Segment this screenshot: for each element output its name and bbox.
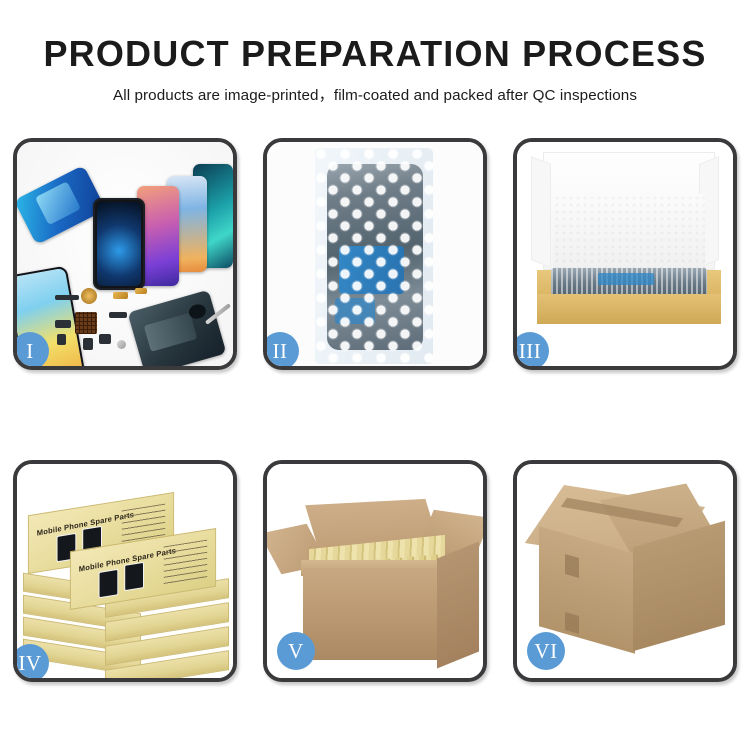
- box-lid-left-flap-icon: [531, 156, 551, 268]
- battery-connector-icon: [99, 334, 111, 344]
- carton-side-icon: [437, 542, 479, 669]
- box-phone-thumb-icon: [124, 562, 144, 591]
- header: PRODUCT PREPARATION PROCESS All products…: [0, 0, 750, 105]
- ic-chip-icon: [75, 312, 97, 334]
- flex-cable-icon: [113, 292, 128, 299]
- stacked-boxes-image: Mobile Phone Spare Parts Mobile Phone Sp…: [17, 464, 233, 678]
- button-flex-icon: [135, 288, 147, 294]
- process-steps-grid: I II III: [13, 138, 737, 682]
- phone-glass-panel-icon: [93, 198, 145, 290]
- retail-box-stack: Mobile Phone Spare Parts Mobile Phone Sp…: [21, 478, 233, 674]
- process-step-panel-6: VI: [513, 460, 737, 682]
- sealed-carton-tape-icon: [565, 554, 579, 578]
- bubble-wrap-image: [267, 142, 483, 366]
- sim-tray-icon: [83, 338, 93, 350]
- step-badge-5: V: [277, 632, 315, 670]
- earpiece-mesh-icon: [109, 312, 127, 318]
- page-title: PRODUCT PREPARATION PROCESS: [0, 34, 750, 74]
- process-step-panel-4: Mobile Phone Spare Parts Mobile Phone Sp…: [13, 460, 237, 682]
- process-step-panel-5: V: [263, 460, 487, 682]
- speaker-part-icon: [81, 288, 97, 304]
- camera-module-icon: [57, 334, 66, 345]
- box-phone-thumb-icon: [99, 569, 119, 598]
- product-preparation-infographic: PRODUCT PREPARATION PROCESS All products…: [0, 0, 750, 750]
- process-step-panel-3: III: [513, 138, 737, 370]
- carton-body-icon: [303, 568, 451, 660]
- product-screens-image: [17, 142, 233, 366]
- foam-lining-icon: [553, 194, 705, 272]
- process-step-panel-1: I: [13, 138, 237, 370]
- foam-box-image: [517, 142, 733, 366]
- antenna-strip-icon: [55, 295, 79, 300]
- page-subtitle: All products are image-printed，film-coat…: [0, 83, 750, 105]
- kraft-box-front-icon: [537, 294, 721, 324]
- phone-logic-board-icon: [128, 290, 227, 366]
- wrapped-product-icon: [327, 164, 423, 350]
- box-spec-lines-icon: [164, 540, 207, 585]
- process-step-panel-2: II: [263, 138, 487, 370]
- vibrator-part-icon: [55, 320, 71, 328]
- sealed-carton-tape-icon: [565, 612, 579, 634]
- step-badge-6: VI: [527, 632, 565, 670]
- screw-set-icon: [117, 340, 126, 349]
